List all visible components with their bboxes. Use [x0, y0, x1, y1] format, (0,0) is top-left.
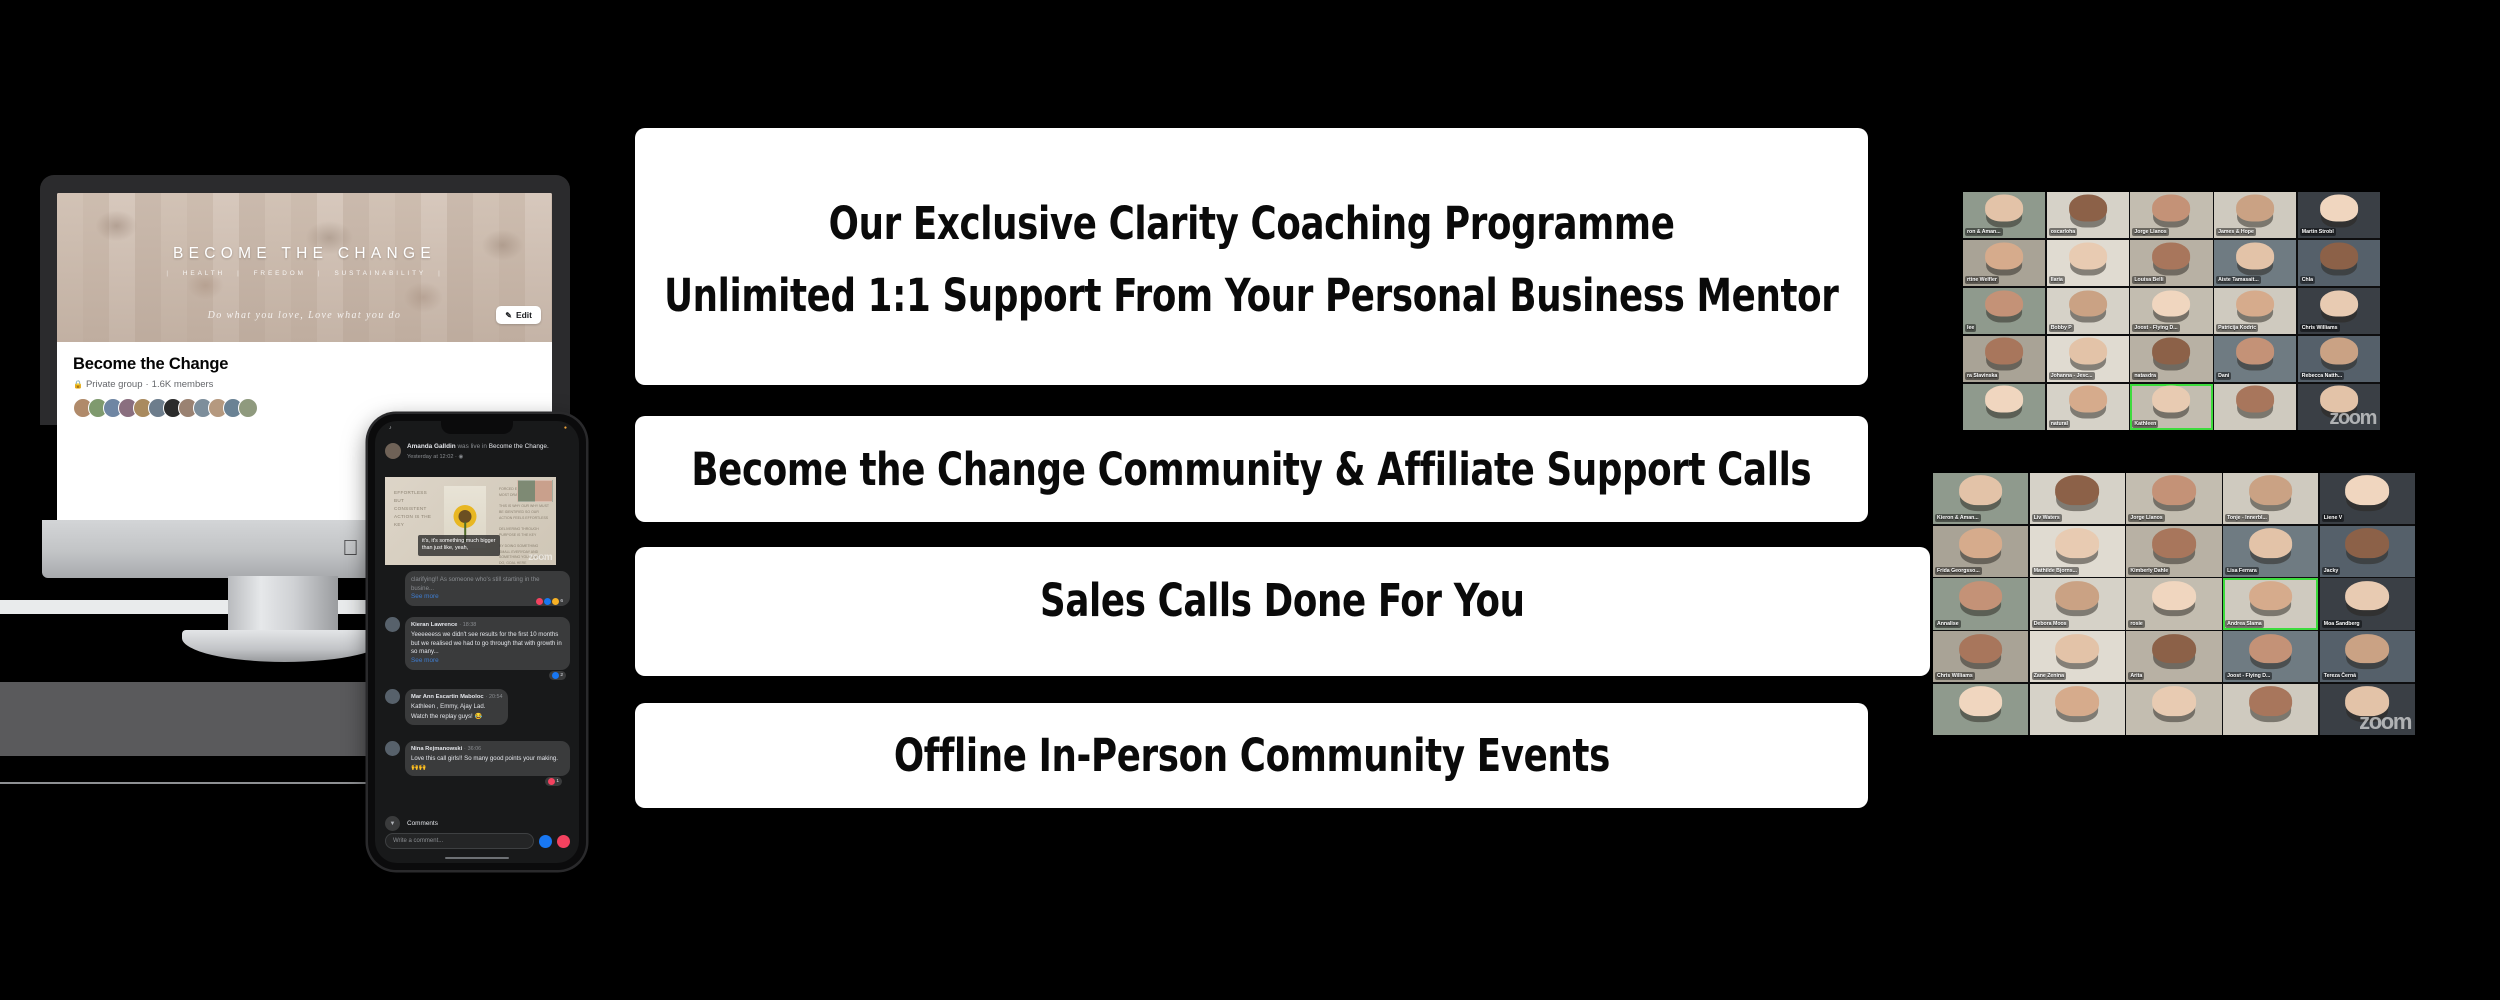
participant-name-label: Kimberly Dahle [2128, 567, 2170, 575]
participant-name-label: Ilaria [2049, 276, 2065, 284]
care-icon [552, 598, 559, 605]
apple-logo-icon:  [342, 538, 359, 559]
iphone-mockup: ♪ ● Amanda Galldin was live in Become th… [368, 414, 586, 870]
participant-name-label: Annalise [1935, 620, 1961, 628]
status-bar-left-icon: ♪ [389, 425, 392, 431]
zoom-participant-tile[interactable]: Joost - Flying D... [2130, 288, 2212, 334]
participant-video [2236, 386, 2274, 413]
group-name: Become the Change [73, 355, 536, 374]
picture-in-picture-speakers [517, 480, 553, 502]
headline-panel-5: Offline In-Person Community Events [635, 703, 1868, 808]
zoom-participant-tile[interactable]: Arita [2126, 631, 2221, 682]
zoom-participant-tile[interactable]: Aiste Tamasait... [2214, 240, 2296, 286]
participant-video [2153, 194, 2191, 221]
participant-video [2320, 194, 2358, 221]
post-header: Amanda Galldin was live in Become the Ch… [385, 443, 569, 461]
headline-panel-4: Sales Calls Done For You [635, 547, 1930, 676]
pillar-freedom: FREEDOM [254, 270, 306, 277]
participant-name-label: Patricija Kodric [2216, 324, 2258, 332]
desk-hairline [0, 782, 372, 784]
group-privacy: Private group [86, 379, 143, 390]
participant-video [2249, 476, 2293, 506]
participant-video [1985, 194, 2023, 221]
participant-video [2249, 634, 2293, 664]
phone-notch [441, 421, 513, 434]
participant-video [2152, 581, 2196, 611]
zoom-participant-tile[interactable]: James & Hope [2214, 192, 2296, 238]
participant-video [2152, 686, 2196, 716]
zoom-participant-tile[interactable] [2223, 684, 2318, 735]
participant-video [2249, 581, 2293, 611]
comment-body: Yeeeeeess we didn't see results for the … [411, 631, 564, 657]
reaction-count-1: 2 [560, 673, 563, 678]
reaction-pill-2[interactable]: 1 [545, 777, 562, 786]
participant-video [1985, 338, 2023, 365]
zoom-participant-tile[interactable] [2030, 684, 2125, 735]
post-byline: Amanda Galldin was live in Become the Ch… [407, 443, 549, 461]
participant-name-label: Chla [2300, 276, 2315, 284]
see-more-link-1[interactable]: See more [411, 657, 439, 664]
zoom-participant-tile[interactable]: rtine Welfler [1963, 240, 2045, 286]
slide-note-1: THIS IS WHY OUR WHY MUST BE IDENTIFIED S… [499, 504, 549, 522]
participant-video [2152, 634, 2196, 664]
zoom-participant-tile[interactable]: ron & Aman... [1963, 192, 2045, 238]
participant-name-label: oscarloha [2049, 228, 2078, 236]
participant-video [2236, 194, 2274, 221]
participant-name-label: Frida Georgsso... [1935, 567, 1982, 575]
participant-video [2153, 386, 2191, 413]
participant-video [1959, 581, 2003, 611]
zoom-participant-tile[interactable]: Chris Williams [1933, 631, 2028, 682]
zoom-participant-tile[interactable]: Andrea Slama [2223, 578, 2318, 629]
comment-body-2: Watch the replay guys! 😂 [411, 713, 502, 722]
participant-name-label: Jorge Llanos [2128, 514, 2164, 522]
participant-video [1959, 686, 2003, 716]
comment-time: 36:06 [468, 746, 482, 752]
zoom-participant-tile[interactable]: Kieron & Aman... [1933, 473, 2028, 524]
zoom-participant-tile[interactable]: Kathleen [2130, 384, 2212, 430]
reaction-pill-0[interactable]: 6 [533, 597, 566, 606]
post-author-name[interactable]: Amanda Galldin [407, 443, 456, 450]
group-member-count: 1.6K members [152, 379, 214, 390]
desk-edge-line [0, 600, 430, 614]
participant-video [2069, 194, 2107, 221]
zoom-participant-tile[interactable] [1963, 384, 2045, 430]
participant-name-label: Chris Williams [2300, 324, 2340, 332]
comment-author[interactable]: Mar Ann Escartin Maboloc [411, 694, 484, 700]
participant-video [2055, 581, 2099, 611]
participant-video [2069, 386, 2107, 413]
participant-video [2153, 290, 2191, 317]
phone-screen: ♪ ● Amanda Galldin was live in Become th… [375, 421, 579, 863]
participant-video [2055, 686, 2099, 716]
participant-name-label: Tonje - Innerbl... [2225, 514, 2269, 522]
group-cover-photo: BECOME THE CHANGE |HEALTH|FREEDOM|SUSTAI… [57, 193, 552, 342]
pillar-separator-2: | [318, 270, 323, 277]
participant-video [2055, 476, 2099, 506]
participant-video [2346, 528, 2390, 558]
zoom-participant-tile[interactable]: Jacky [2320, 526, 2415, 577]
heart-icon [536, 598, 543, 605]
imac-stand-foot [182, 630, 387, 662]
zoom-participant-tile[interactable]: Johanna - Jesc... [2047, 336, 2129, 382]
zoom-participant-tile[interactable]: lee [1963, 288, 2045, 334]
post-timestamp-row: Yesterday at 12:02 · ◉ [407, 454, 549, 462]
zoom-participant-tile[interactable]: natural [2047, 384, 2129, 430]
participant-name-label: Arita [2128, 672, 2144, 680]
headline-text-4: Sales Calls Done For You [1040, 574, 1525, 627]
live-video-player[interactable]: EFFORTLESS BUT CONSISTENT ACTION IS THE … [385, 477, 556, 565]
zoom-participant-tile[interactable]: oscarloha [2047, 192, 2129, 238]
participant-video [1959, 476, 2003, 506]
participant-name-label: Louisa Belli [2132, 276, 2165, 284]
zoom-participant-tile[interactable]: ra Slavinska [1963, 336, 2045, 382]
globe-icon: ◉ [458, 454, 463, 460]
desk-surface-band [0, 682, 372, 756]
home-indicator [445, 857, 509, 860]
participant-video [2069, 290, 2107, 317]
participant-name-label: Liv Waters [2032, 514, 2062, 522]
participant-name-label: Mathilde Bjorns... [2032, 567, 2079, 575]
participant-name-label: Andrea Slama [2225, 620, 2264, 628]
zoom-participant-tile[interactable]: Jorge Llanos [2130, 192, 2212, 238]
comment-author[interactable]: Nina Rejmanowski [411, 746, 462, 752]
cover-brand-title: BECOME THE CHANGE [57, 245, 552, 263]
chevron-down-icon: ▼ [385, 816, 400, 831]
zoom-participant-tile[interactable]: Debora Moos [2030, 578, 2125, 629]
participant-name-label: Johanna - Jesc... [2049, 372, 2095, 380]
zoom-participant-tile[interactable]: Tereza Černá [2320, 631, 2415, 682]
participant-name-label: Debora Moos [2032, 620, 2069, 628]
like-icon [544, 598, 551, 605]
post-author-avatar[interactable] [385, 443, 401, 459]
comments-toggle[interactable]: ▼ Comments [385, 816, 438, 831]
participant-video [1959, 528, 2003, 558]
participant-video [1985, 386, 2023, 413]
comment-separator: · [485, 694, 487, 700]
zoom-participant-tile[interactable]: Martin Strobl [2298, 192, 2380, 238]
zoom-participant-tile[interactable]: Annalise [1933, 578, 2028, 629]
zoom-participant-tile[interactable]: rosie [2126, 578, 2221, 629]
participant-name-label: James & Hope [2216, 228, 2256, 236]
participant-video [2249, 686, 2293, 716]
see-more-link-0[interactable]: See more [411, 593, 439, 600]
status-bar-right-icon: ● [564, 425, 567, 431]
zoom-call-grid-1: ron & Aman...oscarlohaJorge LlanosJames … [1963, 192, 2380, 430]
participant-name-label: natural [2049, 420, 2070, 428]
participant-video [1959, 634, 2003, 664]
participant-video [2236, 338, 2274, 365]
zoom-participant-tile[interactable]: Lisa Ferrara [2223, 526, 2318, 577]
comment-composer: Write a comment... [385, 833, 570, 849]
participant-name-label: Lisa Ferrara [2225, 567, 2259, 575]
slide-note-2: DELIVERING THROUGH PURPOSE IS THE KEY [499, 527, 549, 539]
participant-name-label: Rebecca Natth... [2300, 372, 2344, 380]
like-icon[interactable] [539, 835, 552, 848]
participant-video [2346, 581, 2390, 611]
participant-name-label: Tereza Černá [2322, 672, 2358, 680]
comment-item: Mar Ann Escartin Maboloc · 20:54 Kathlee… [385, 689, 570, 725]
pillar-separator-1: | [237, 270, 242, 277]
member-avatar[interactable] [238, 398, 258, 418]
zoom-participant-tile[interactable]: Chris Williams [2298, 288, 2380, 334]
participant-name-label: Joost - Flying D... [2225, 672, 2272, 680]
zoom-participant-tile[interactable] [1933, 684, 2028, 735]
participant-video [2069, 242, 2107, 269]
participant-name-label: Chris Williams [1935, 672, 1975, 680]
participant-name-label: Dani [2216, 372, 2231, 380]
headline-panel-1: Our Exclusive Clarity Coaching Programme [635, 128, 1868, 385]
pillar-sustainability: SUSTAINABILITY [334, 270, 426, 277]
participant-video [2153, 338, 2191, 365]
meta-separator: · [145, 379, 148, 390]
cover-pillars: |HEALTH|FREEDOM|SUSTAINABILITY| [57, 270, 552, 277]
heart-icon [548, 778, 555, 785]
zoom-watermark: zoom [2329, 408, 2376, 428]
comments-toggle-label: Comments [407, 820, 438, 827]
comment-avatar[interactable] [385, 741, 400, 756]
comment-bubble: Kieran Lawrence · 18:38 Yeeeeeess we did… [405, 617, 570, 670]
participant-name-label: Aiste Tamasait... [2216, 276, 2261, 284]
participant-name-label: Jacky [2322, 567, 2340, 575]
zoom-participant-tile[interactable] [2214, 384, 2296, 430]
reaction-pill-1[interactable]: 2 [549, 671, 566, 680]
participant-name-label: Martin Strobl [2300, 228, 2336, 236]
zoom-participant-tile[interactable]: Jorge Llanos [2126, 473, 2221, 524]
comment-separator: · [459, 622, 461, 628]
comment-avatar[interactable] [385, 689, 400, 704]
zoom-participant-tile[interactable]: Zane Zenina [2030, 631, 2125, 682]
pillar-health: HEALTH [183, 270, 225, 277]
zoom-participant-tile[interactable]: Ilaria [2047, 240, 2129, 286]
zoom-participant-tile[interactable]: Liv Waters [2030, 473, 2125, 524]
pillar-separator-3: | [438, 270, 443, 277]
participant-video [2055, 528, 2099, 558]
participant-name-label: Zane Zenina [2032, 672, 2066, 680]
comment-input[interactable]: Write a comment... [385, 833, 534, 849]
participant-name-label: Bobby P [2049, 324, 2074, 332]
post-timestamp: Yesterday at 12:02 [407, 454, 453, 460]
comment-avatar[interactable] [385, 617, 400, 632]
comment-body: Love this call girls!! So many good poin… [411, 755, 564, 772]
participant-name-label: natasdra [2132, 372, 2158, 380]
participant-name-label: Joost - Flying D... [2132, 324, 2179, 332]
pillar-separator-0: | [166, 270, 171, 277]
post-target-line1[interactable]: Become the [489, 443, 523, 450]
zoom-call-grid-2: Kieron & Aman...Liv WatersJorge LlanosTo… [1933, 473, 2415, 735]
participant-video [2346, 634, 2390, 664]
participant-video [2152, 476, 2196, 506]
zoom-participant-tile[interactable]: Kimberly Dahle [2126, 526, 2221, 577]
participant-video [2055, 634, 2099, 664]
participant-name-label: Liene V [2322, 514, 2344, 522]
headline-text-5: Offline In-Person Community Events [893, 729, 1609, 782]
zoom-participant-tile[interactable]: Patricija Kodric [2214, 288, 2296, 334]
participant-name-label: Kathleen [2132, 420, 2158, 428]
imac-stand-neck [228, 576, 338, 638]
zoom-participant-tile[interactable] [2126, 684, 2221, 735]
comment-truncated-body: clarifying!! As someone who's still star… [411, 576, 564, 593]
headline-text-3: Become the Change Community & Affiliate … [692, 443, 1812, 496]
headline-text-1: Our Exclusive Clarity Coaching Programme [829, 197, 1675, 250]
participant-name-label: ron & Aman... [1965, 228, 2003, 236]
participant-video [1985, 242, 2023, 269]
participant-video [2249, 528, 2293, 558]
zoom-participant-tile[interactable]: Dani [2214, 336, 2296, 382]
post-target-line2[interactable]: Change. [525, 443, 549, 450]
comment-body: Kathleen , Emmy, Ajay Lad. [411, 703, 502, 712]
headline-panel-3: Become the Change Community & Affiliate … [635, 416, 1868, 522]
edit-cover-label: Edit [516, 310, 532, 320]
zoom-participant-tile[interactable]: Chla [2298, 240, 2380, 286]
participant-video [2346, 476, 2390, 506]
live-caption: it's, it's something much bigger than ju… [418, 535, 500, 556]
comment-time: 20:54 [489, 694, 503, 700]
participant-video [1985, 290, 2023, 317]
participant-video [2069, 338, 2107, 365]
comment-bubble: Nina Rejmanowski · 36:06 Love this call … [405, 741, 570, 776]
zoom-watermark: zoom [528, 552, 552, 563]
participant-name-label: ra Slavinska [1965, 372, 1999, 380]
zoom-participant-tile[interactable]: Rebecca Natth... [2298, 336, 2380, 382]
participant-name-label: Jorge Llanos [2132, 228, 2168, 236]
reaction-count-2: 1 [556, 779, 559, 784]
zoom-participant-tile[interactable]: Mathilde Bjorns... [2030, 526, 2125, 577]
timestamp-separator: · [455, 454, 457, 460]
comment-time: 18:38 [463, 622, 477, 628]
participant-video [2236, 242, 2274, 269]
comment-separator: · [464, 746, 466, 752]
participant-name-label: Kieron & Aman... [1935, 514, 1981, 522]
participant-video [2153, 242, 2191, 269]
participant-video [2152, 528, 2196, 558]
participant-name-label: rosie [2128, 620, 2144, 628]
heart-icon[interactable] [557, 835, 570, 848]
cover-script-quote: Do what you love, Love what you do [57, 310, 552, 321]
participant-video [2320, 242, 2358, 269]
zoom-participant-tile[interactable]: Tonje - Innerbl... [2223, 473, 2318, 524]
participant-name-label: Moa Sandberg [2322, 620, 2362, 628]
zoom-participant-tile[interactable]: natasdra [2130, 336, 2212, 382]
participant-name-label: lee [1965, 324, 1976, 332]
participant-name-label: rtine Welfler [1965, 276, 1999, 284]
zoom-watermark: zoom [2359, 711, 2411, 733]
zoom-participant-tile[interactable]: Bobby P [2047, 288, 2129, 334]
comment-item: Nina Rejmanowski · 36:06 Love this call … [385, 741, 570, 776]
comment-author[interactable]: Kieran Lawrence [411, 622, 457, 628]
zoom-participant-tile[interactable]: Louisa Belli [2130, 240, 2212, 286]
edit-cover-button[interactable]: ✎ Edit [496, 306, 541, 324]
zoom-participant-tile[interactable]: Frida Georgsso... [1933, 526, 2028, 577]
lock-icon: 🔒 [73, 380, 83, 389]
pencil-icon: ✎ [505, 311, 512, 320]
zoom-participant-tile[interactable]: Liene V [2320, 473, 2415, 524]
reaction-count-0: 6 [560, 599, 563, 604]
participant-video [2320, 338, 2358, 365]
participant-video [2320, 290, 2358, 317]
like-icon [552, 672, 559, 679]
comment-bubble: Mar Ann Escartin Maboloc · 20:54 Kathlee… [405, 689, 508, 725]
group-meta: 🔒 Private group · 1.6K members [73, 379, 536, 390]
zoom-participant-tile[interactable]: Moa Sandberg [2320, 578, 2415, 629]
post-action-text: was live in [457, 443, 486, 450]
zoom-participant-tile[interactable]: Joost - Flying D... [2223, 631, 2318, 682]
slide-headline-text: EFFORTLESS BUT CONSISTENT ACTION IS THE … [394, 489, 436, 529]
participant-video [2236, 290, 2274, 317]
comment-item: Kieran Lawrence · 18:38 Yeeeeeess we did… [385, 617, 570, 670]
